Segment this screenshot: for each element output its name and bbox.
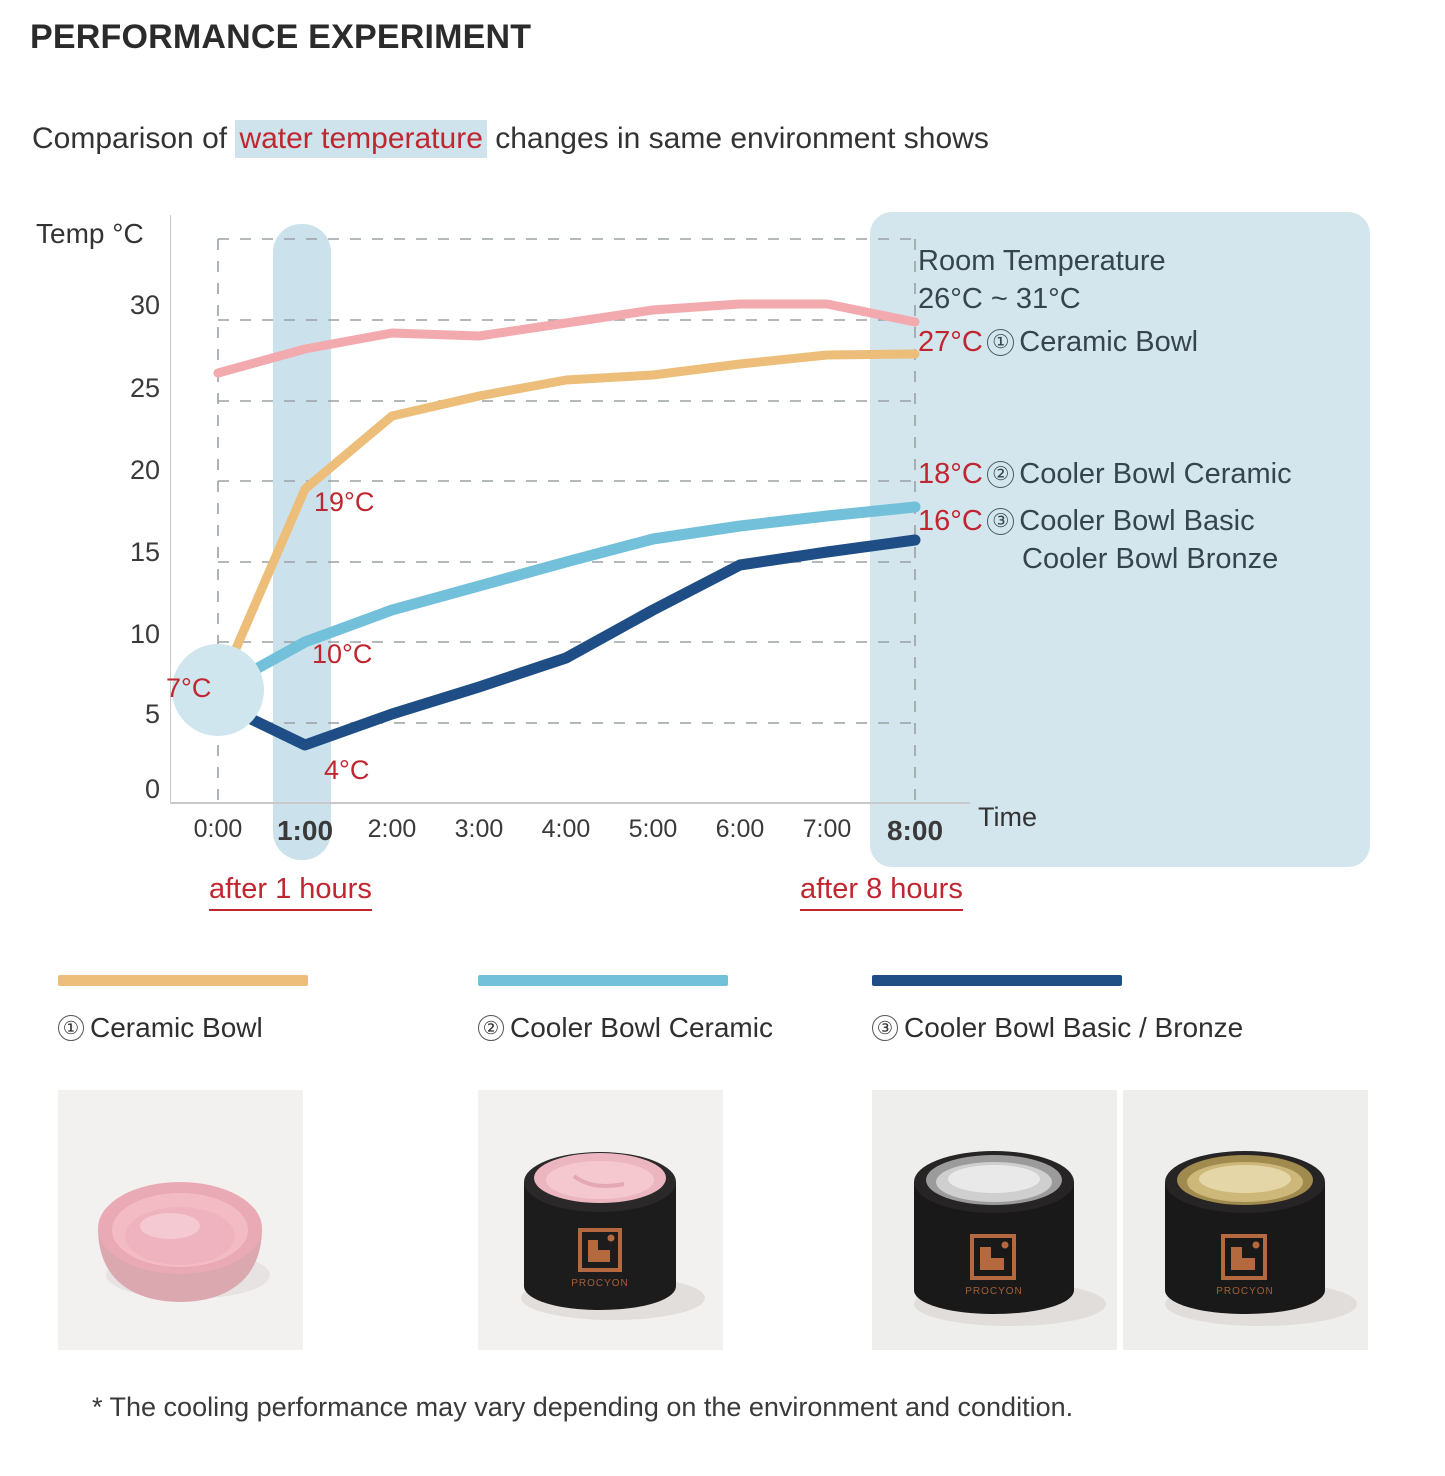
legend-color-bar-ceramic <box>58 975 308 986</box>
x-tick-1: 1:00 <box>265 815 345 847</box>
x-tick-6: 6:00 <box>700 815 780 844</box>
room-temperature-range: 26°C ~ 31°C <box>918 283 1081 316</box>
legend-color-bar-cooler-basic <box>872 975 1122 986</box>
x-tick-0: 0:00 <box>178 815 258 844</box>
legend-label-cooler-ceramic: ②Cooler Bowl Ceramic <box>478 1012 728 1044</box>
subtitle-pre: Comparison of <box>32 122 235 155</box>
legend-label-cooler-basic: ③Cooler Bowl Basic / Bronze <box>872 1012 1122 1044</box>
legend-item-cooler-basic: ③Cooler Bowl Basic / Bronze <box>872 975 1122 1044</box>
y-tick: 5 <box>96 699 160 730</box>
callout-ceramic-1h: 19°C <box>314 487 374 518</box>
svg-text:PROCYON: PROCYON <box>965 1286 1023 1297</box>
page-title: PERFORMANCE EXPERIMENT <box>30 18 531 57</box>
circled-number-1: ① <box>987 329 1014 356</box>
legend-name-ceramic: Ceramic Bowl <box>1019 326 1198 358</box>
circled-number-3: ③ <box>987 508 1014 535</box>
legend-text-cooler-ceramic: Cooler Bowl Ceramic <box>510 1012 773 1043</box>
callout-cooler-basic-1h: 4°C <box>324 755 369 786</box>
performance-experiment-page: PERFORMANCE EXPERIMENT Comparison of wat… <box>0 0 1445 1476</box>
cooler-bowl-basic-illustration: PROCYON <box>872 1090 1117 1350</box>
callout-start-temp: 7°C <box>166 673 211 704</box>
y-tick: 10 <box>96 619 160 650</box>
series-room-temperature <box>218 304 915 373</box>
ceramic-bowl-illustration <box>58 1090 303 1350</box>
legend-item-cooler-ceramic: ②Cooler Bowl Ceramic <box>478 975 728 1044</box>
legend-text-cooler-basic: Cooler Bowl Basic / Bronze <box>904 1012 1243 1043</box>
y-tick: 15 <box>96 537 160 568</box>
annotation-after-1-hour: after 1 hours <box>209 873 372 911</box>
legend-label-ceramic: ①Ceramic Bowl <box>58 1012 308 1044</box>
callout-cooler-ceramic-1h: 10°C <box>312 639 372 670</box>
legend-circled-number-3: ③ <box>872 1015 898 1041</box>
y-tick: 0 <box>96 774 160 805</box>
product-legend: ①Ceramic Bowl ②Cooler Bowl Ceramic ③Cool… <box>0 975 1445 1070</box>
page-subtitle: Comparison of water temperature changes … <box>32 122 989 156</box>
legend-name-cooler-ceramic: Cooler Bowl Ceramic <box>1019 458 1291 490</box>
cooler-bowl-ceramic-illustration: PROCYON <box>478 1090 723 1350</box>
product-photo-cooler-bowl-bronze: PROCYON <box>1123 1090 1368 1350</box>
y-tick: 30 <box>96 290 160 321</box>
x-tick-4: 4:00 <box>526 815 606 844</box>
legend-color-bar-cooler-ceramic <box>478 975 728 986</box>
product-photos: PROCYON PROCYON <box>0 1090 1445 1355</box>
temperature-chart: Temp °C Time 30 25 20 15 10 5 0 <box>0 200 1400 900</box>
footnote: * The cooling performance may vary depen… <box>92 1392 1073 1423</box>
product-photo-ceramic-bowl <box>58 1090 303 1350</box>
svg-text:PROCYON: PROCYON <box>1216 1286 1274 1297</box>
product-photo-cooler-bowl-ceramic: PROCYON <box>478 1090 723 1350</box>
svg-text:PROCYON: PROCYON <box>571 1278 629 1289</box>
x-axis-title: Time <box>978 802 1037 833</box>
subtitle-highlight: water temperature <box>235 120 486 158</box>
legend-circled-number-1: ① <box>58 1015 84 1041</box>
room-temperature-label: Room Temperature <box>918 245 1166 278</box>
subtitle-post: changes in same environment shows <box>487 122 989 155</box>
y-axis-ticks: 30 25 20 15 10 5 0 <box>96 200 160 800</box>
legend-name-cooler-basic: Cooler Bowl Basic <box>1019 505 1254 537</box>
cooler-bowl-bronze-illustration: PROCYON <box>1123 1090 1368 1350</box>
y-tick: 20 <box>96 455 160 486</box>
legend-temp-ceramic: 27°C <box>918 326 983 358</box>
legend-name-cooler-bronze: Cooler Bowl Bronze <box>1022 543 1278 576</box>
x-tick-8: 8:00 <box>875 815 955 847</box>
x-tick-5: 5:00 <box>613 815 693 844</box>
annotation-after-8-hours: after 8 hours <box>800 873 963 911</box>
circled-number-2: ② <box>987 461 1014 488</box>
legend-temp-cooler-ceramic: 18°C <box>918 458 983 490</box>
x-tick-2: 2:00 <box>352 815 432 844</box>
legend-circled-number-2: ② <box>478 1015 504 1041</box>
x-tick-7: 7:00 <box>787 815 867 844</box>
x-tick-3: 3:00 <box>439 815 519 844</box>
legend-item-ceramic-bowl: ①Ceramic Bowl <box>58 975 308 1044</box>
chart-svg <box>170 215 970 815</box>
legend-row-cooler-ceramic: 18°C ②Cooler Bowl Ceramic <box>918 458 1292 491</box>
legend-row-ceramic: 27°C ①Ceramic Bowl <box>918 326 1198 359</box>
legend-temp-cooler-basic: 16°C <box>918 505 983 537</box>
legend-text-ceramic: Ceramic Bowl <box>90 1012 263 1043</box>
plot-area: 7°C 19°C 10°C 4°C 0:00 1:00 2:00 3:00 4:… <box>170 215 970 805</box>
y-tick: 25 <box>96 373 160 404</box>
product-photo-cooler-bowl-basic: PROCYON <box>872 1090 1117 1350</box>
legend-row-cooler-basic: 16°C ③Cooler Bowl Basic <box>918 505 1255 538</box>
